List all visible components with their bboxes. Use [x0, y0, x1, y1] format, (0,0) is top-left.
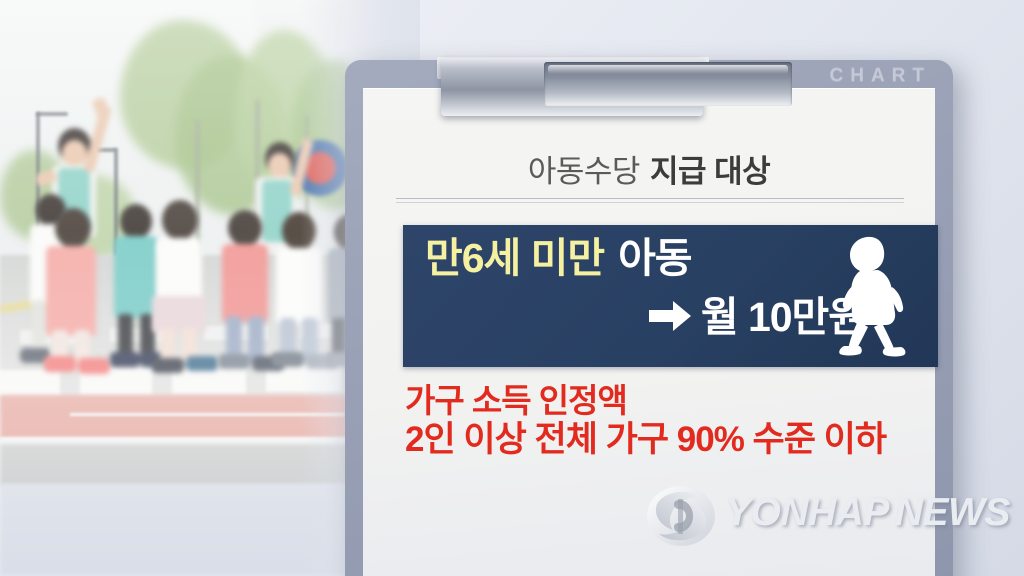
- chart-watermark: CHART: [830, 65, 932, 87]
- clip-highlight: [548, 65, 788, 74]
- yonhap-news-wordmark: YONHAPNEWS: [725, 491, 1010, 535]
- walking-child-silhouette-icon: [830, 233, 922, 359]
- condition-line-2: 2인 이상 전체 가구 90% 수준 이하: [405, 420, 915, 460]
- street-lamp-arm: [36, 112, 68, 116]
- arrow-right-icon: [649, 297, 691, 338]
- title-divider: [396, 198, 904, 199]
- yonhap-news-logo: YONHAPNEWS: [645, 482, 955, 552]
- condition-text: 가구 소득 인정액 2인 이상 전체 가구 90% 수준 이하: [405, 382, 915, 460]
- graphic-canvas: CHART 아동수당지급 대상 만6세 미만아동 월 10만원: [0, 0, 1024, 576]
- highlight-box: 만6세 미만아동 월 10만원: [403, 225, 938, 367]
- logo-text-yonhap: YONHAP: [725, 491, 889, 534]
- crosswalk-stripe: [0, 370, 60, 396]
- clipboard-clip: [441, 58, 703, 116]
- yonhap-swirl-emblem-icon: [645, 484, 717, 548]
- page-title-bold: 지급 대상: [650, 154, 770, 189]
- page-title: 아동수당지급 대상: [363, 146, 935, 191]
- highlight-line-1: 만6세 미만아동: [425, 238, 692, 279]
- condition-line-1: 가구 소득 인정액: [405, 382, 915, 420]
- logo-text-news: NEWS: [895, 491, 1010, 534]
- highlight-age-text: 만6세 미만: [425, 235, 604, 281]
- highlight-target-text: 아동: [618, 235, 691, 281]
- page-title-light: 아동수당: [528, 154, 640, 189]
- title-divider-secondary: [396, 202, 904, 203]
- highlight-line-2: 월 10만원: [425, 297, 865, 341]
